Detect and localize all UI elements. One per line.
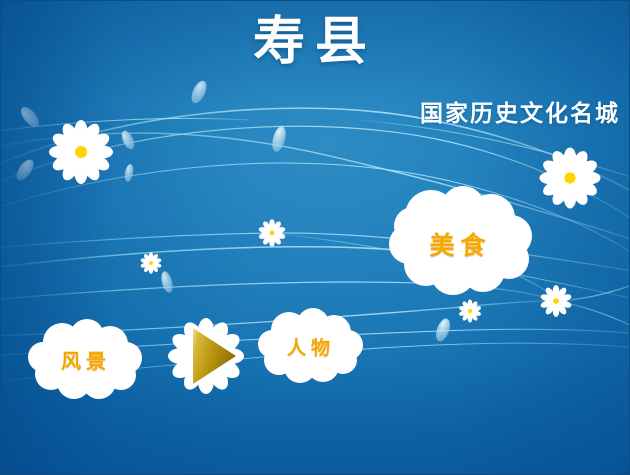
cloud-shape-icon [383, 186, 538, 296]
daisy-large-left [48, 119, 114, 185]
page-title: 寿县 [0, 12, 630, 72]
nav-cloud-meishi[interactable]: 美食 [383, 186, 538, 296]
daisy-small-center [258, 219, 286, 247]
daisy-large-right [538, 146, 602, 210]
daisy-small-left [140, 252, 162, 274]
daisy-small-right [540, 285, 572, 317]
cloud-shape-icon [255, 308, 367, 384]
play-button[interactable] [168, 318, 244, 394]
daisy-tiny-right [458, 299, 482, 323]
page-subtitle: 国家历史文化名城 [420, 94, 620, 128]
nav-cloud-renwu[interactable]: 人物 [255, 308, 367, 384]
slide-canvas: 寿县 国家历史文化名城 美食 [0, 0, 630, 475]
nav-cloud-fengjing[interactable]: 风景 [24, 318, 148, 400]
cloud-shape-icon [24, 318, 148, 400]
